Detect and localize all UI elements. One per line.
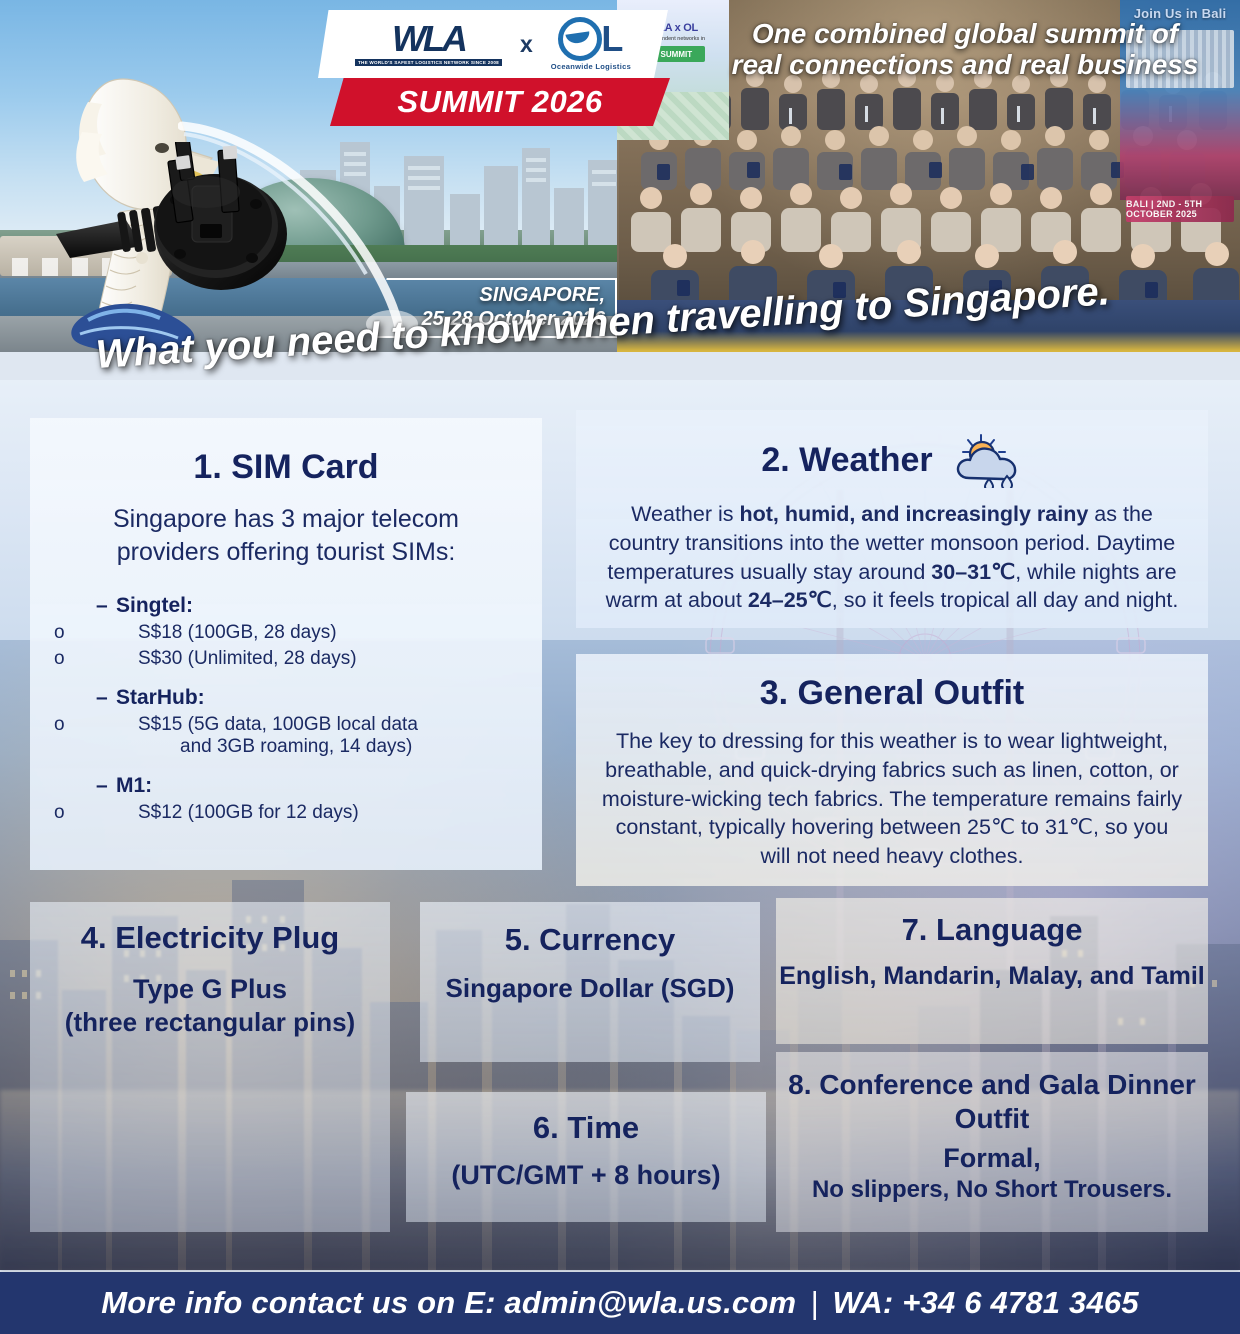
language-title: 7. Language <box>776 912 1208 948</box>
footer-contact-email-text[interactable]: More info contact us on E: admin@wla.us.… <box>101 1285 796 1321</box>
weather-bold-3: 24–25℃ <box>748 588 832 612</box>
plug-title: 4. Electricity Plug <box>30 920 390 956</box>
sim-option: oS$18 (100GB, 28 days) <box>96 622 542 644</box>
sim-provider-singtel: –Singtel: <box>96 594 542 618</box>
outfit-title: 3. General Outfit <box>576 674 1208 713</box>
gala-restrictions: No slippers, No Short Trousers. <box>776 1176 1208 1204</box>
card-language: 7. Language English, Mandarin, Malay, an… <box>776 898 1208 1044</box>
language-value: English, Mandarin, Malay, and Tamil <box>776 960 1208 993</box>
sim-option: oS$15 (5G data, 100GB local data and 3GB… <box>96 714 542 758</box>
bullet-dash: – <box>96 594 116 618</box>
weather-body-part4: , so it feels tropical all day and night… <box>832 588 1179 612</box>
ol-letter-l: L <box>601 24 623 55</box>
sim-option-text-cont: and 3GB roaming, 14 days) <box>138 736 542 758</box>
ol-logo-row: L <box>558 17 623 61</box>
outfit-body: The key to dressing for this weather is … <box>576 713 1208 871</box>
weather-bold-2: 30–31℃ <box>931 560 1015 584</box>
currency-title: 5. Currency <box>420 922 760 958</box>
infographic-page: Join Us in Bali BALI | 2ND - 5TH OCTOBER… <box>0 0 1240 1334</box>
bullet-circle: o <box>96 802 138 824</box>
footer-whatsapp-text[interactable]: WA: +34 6 4781 3465 <box>833 1285 1139 1321</box>
sim-option: oS$30 (Unlimited, 28 days) <box>96 648 542 670</box>
bullet-dash: – <box>96 774 116 798</box>
time-value: (UTC/GMT + 8 hours) <box>406 1160 766 1191</box>
card-time: 6. Time (UTC/GMT + 8 hours) <box>406 1092 766 1222</box>
plug-description: (three rectangular pins) <box>30 1007 390 1038</box>
x-separator-icon: x <box>520 31 533 58</box>
provider-name: M1: <box>116 774 152 797</box>
sim-option: oS$12 (100GB for 12 days) <box>96 802 542 824</box>
bullet-dash: – <box>96 686 116 710</box>
wla-logo: WLA THE WORLD'S SAFEST LOGISTICS NETWORK… <box>355 22 502 65</box>
summit-title-band: SUMMIT 2026 <box>330 78 670 126</box>
bullet-circle: o <box>96 622 138 644</box>
tagline-line-2: real connections and real business <box>700 49 1230 80</box>
currency-value: Singapore Dollar (SGD) <box>420 972 760 1005</box>
weather-title: 2. Weather <box>761 441 932 480</box>
bullet-circle: o <box>96 648 138 670</box>
tagline-line-1: One combined global summit of <box>700 18 1230 49</box>
sim-card-title: 1. SIM Card <box>30 448 542 487</box>
uk-type-g-plug-photo <box>56 142 306 312</box>
banner-bali-date: BALI | 2ND - 5TH OCTOBER 2025 <box>1126 196 1234 222</box>
plug-type: Type G Plus <box>30 974 390 1005</box>
oceanwide-logistics-logo: L Oceanwide Logistics <box>551 17 631 71</box>
sun-behind-rain-cloud-icon <box>951 432 1023 488</box>
card-sim-card: 1. SIM Card Singapore has 3 major teleco… <box>30 418 542 870</box>
card-currency: 5. Currency Singapore Dollar (SGD) <box>420 902 760 1062</box>
sim-option-text: S$15 (5G data, 100GB local data <box>138 714 418 735</box>
gala-title: 8. Conference and Gala Dinner Outfit <box>776 1068 1208 1135</box>
contact-footer: More info contact us on E: admin@wla.us.… <box>0 1272 1240 1334</box>
wla-logo-tagline: THE WORLD'S SAFEST LOGISTICS NETWORK SIN… <box>355 59 502 66</box>
card-electricity-plug: 4. Electricity Plug Type G Plus (three r… <box>30 902 390 1232</box>
sim-option-text: S$12 (100GB for 12 days) <box>138 802 359 823</box>
provider-name: StarHub: <box>116 686 205 709</box>
weather-body-part1: Weather is <box>631 502 739 526</box>
time-title: 6. Time <box>406 1110 766 1146</box>
sim-option-text: S$30 (Unlimited, 28 days) <box>138 648 357 669</box>
oceanwide-circle-wave-icon <box>558 17 602 61</box>
wla-wordmark: WLA <box>392 22 465 56</box>
gala-dresscode: Formal, <box>776 1143 1208 1174</box>
sim-option-text: S$18 (100GB, 28 days) <box>138 622 337 643</box>
ol-logo-tagline: Oceanwide Logistics <box>551 62 631 71</box>
footer-separator: | <box>796 1285 832 1321</box>
sim-card-intro: Singapore has 3 major telecom providers … <box>30 503 542 568</box>
card-general-outfit: 3. General Outfit The key to dressing fo… <box>576 654 1208 886</box>
card-conference-gala-outfit: 8. Conference and Gala Dinner Outfit For… <box>776 1052 1208 1232</box>
weather-bold-1: hot, humid, and increasingly rainy <box>739 502 1088 526</box>
weather-body: Weather is hot, humid, and increasingly … <box>576 488 1208 615</box>
summit-title-text: SUMMIT 2026 <box>397 84 602 120</box>
sim-provider-starhub: –StarHub: <box>96 686 542 710</box>
logo-band: WLA THE WORLD'S SAFEST LOGISTICS NETWORK… <box>318 10 668 78</box>
weather-title-row: 2. Weather <box>576 432 1208 488</box>
summit-tagline: One combined global summit of real conne… <box>700 18 1230 81</box>
provider-name: Singtel: <box>116 594 193 617</box>
bullet-circle: o <box>96 714 138 736</box>
card-weather: 2. Weather Weather is hot, humid, and in… <box>576 410 1208 628</box>
sim-provider-m1: –M1: <box>96 774 542 798</box>
sim-provider-list: –Singtel: oS$18 (100GB, 28 days) oS$30 (… <box>30 594 542 824</box>
